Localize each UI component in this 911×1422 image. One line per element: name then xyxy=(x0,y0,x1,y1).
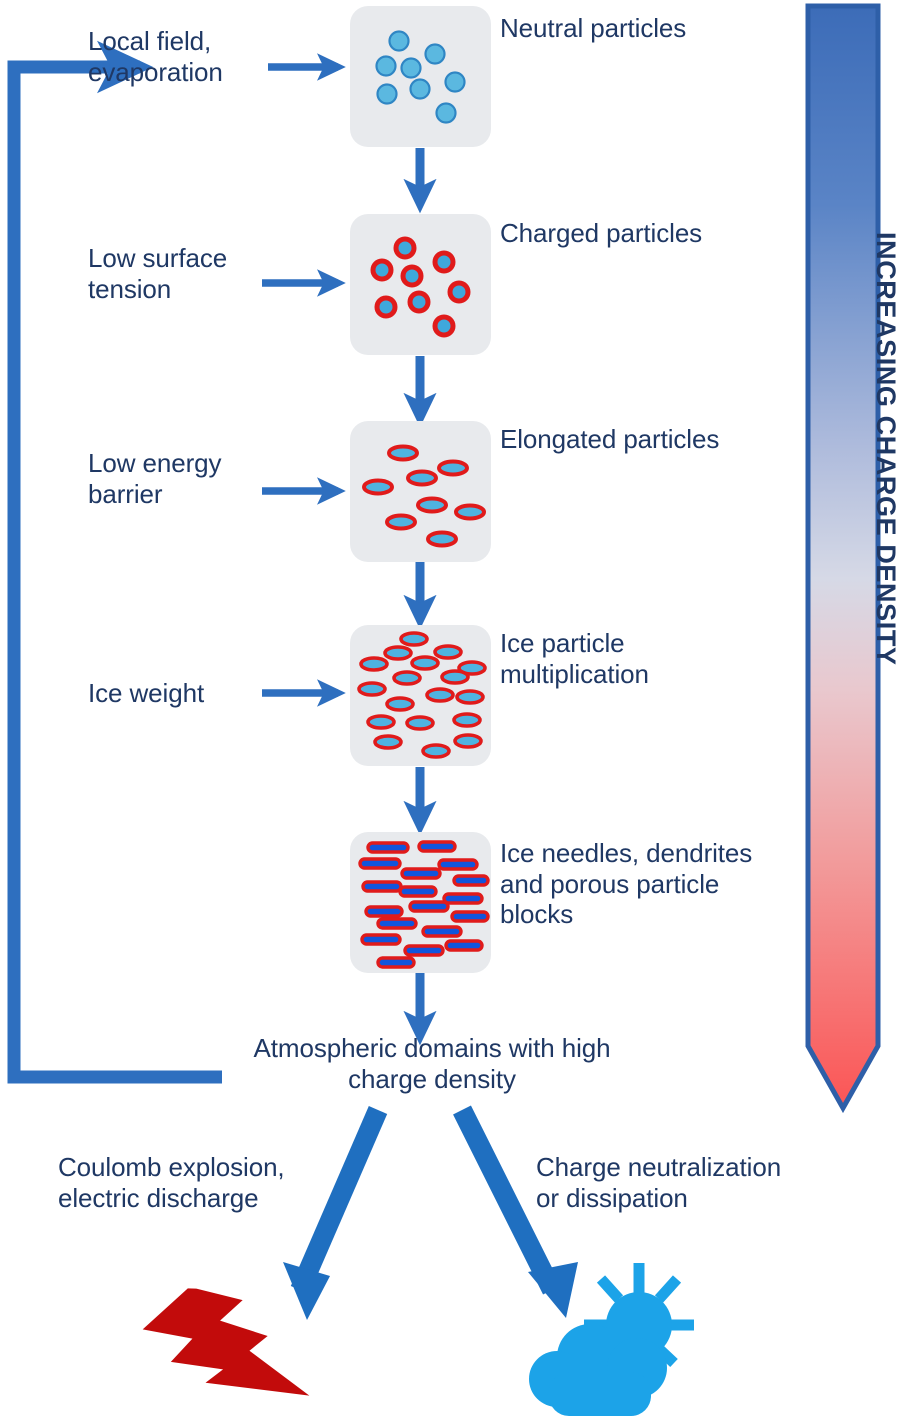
driver-label-charged: Low surface tension xyxy=(88,243,268,304)
stage-box-elongated xyxy=(350,421,491,562)
ice-needles-illustration xyxy=(350,832,491,973)
stage-box-neutral xyxy=(350,6,491,147)
branch-label-neutralization: Charge neutralization or dissipation xyxy=(536,1152,866,1213)
feedback-loop-arrow xyxy=(14,67,222,1077)
stage-label-charged: Charged particles xyxy=(500,218,800,249)
driver-label-multiplication: Ice weight xyxy=(88,678,268,709)
diagram-canvas: Local field, evaporation Low surface ten… xyxy=(0,0,911,1422)
neutral-particles-illustration xyxy=(350,6,491,147)
driver-label-neutral: Local field, evaporation xyxy=(88,26,268,87)
stage-box-multiplication xyxy=(350,625,491,766)
stage-box-charged xyxy=(350,214,491,355)
stage-box-needles xyxy=(350,832,491,973)
stage-label-needles: Ice needles, dendrites and porous partic… xyxy=(500,838,810,930)
stage-label-neutral: Neutral particles xyxy=(500,13,800,44)
stage-label-multiplication: Ice particle multiplication xyxy=(500,628,800,689)
stage-label-elongated: Elongated particles xyxy=(500,424,800,455)
branch-label-discharge: Coulomb explosion, electric discharge xyxy=(58,1152,358,1213)
elongated-particles-illustration xyxy=(350,421,491,562)
charged-particles-illustration xyxy=(350,214,491,355)
branch-arrow-neutralization xyxy=(462,1110,578,1318)
colorbar-label: INCREASING CHARGE DENSITY xyxy=(870,232,901,666)
charge-density-colorbar xyxy=(808,6,878,1108)
sun-behind-cloud-icon xyxy=(529,1263,694,1416)
driver-label-elongated: Low energy barrier xyxy=(88,448,268,509)
lightning-bolt-icon xyxy=(135,1262,309,1422)
outcome-label: Atmospheric domains with high charge den… xyxy=(222,1033,642,1094)
branch-arrow-discharge xyxy=(283,1110,378,1320)
ice-multiplication-illustration xyxy=(350,625,491,766)
